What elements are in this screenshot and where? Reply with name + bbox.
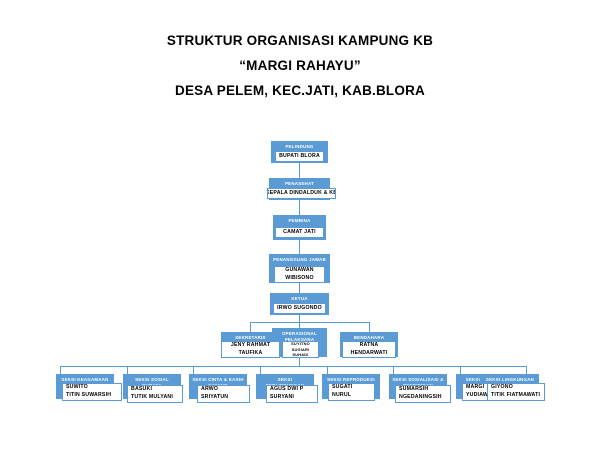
node-penasehat[interactable]: PENASEHAT KEPALA DINDALDUK & KB: [269, 178, 330, 200]
node-operasional-pelaksana[interactable]: OPERASIONAL PELAKSANA SUYITNO SUGIARI SU…: [272, 328, 327, 357]
bus-mid-row: [250, 322, 369, 323]
node-bendahara-name-0: RATNA: [360, 342, 379, 350]
connector-penasehat-pembina: [299, 199, 300, 215]
node-seksi-sosialisasi-pendidikan[interactable]: SEKSI SOSIALISASI & PENDIDIKAN SUMARSIH …: [389, 374, 447, 399]
connector-bus-seksi-5: [327, 366, 328, 374]
connector-pelindung-penasehat: [299, 162, 300, 178]
node-seksi-sosialisasi-pendidikan-name-0: SUMARSIH: [399, 386, 428, 394]
node-seksi-perlindungan[interactable]: SEKSI PERLINDUNGAN AGUS DWI P SURYANI: [256, 374, 314, 399]
node-operasional-pelaksana-name-2: SUHADI: [292, 352, 308, 358]
connector-bus-seksi-4: [260, 366, 261, 374]
node-seksi-reproduksi[interactable]: SEKSI REPRODUKSI SUGATI NURUL: [322, 374, 380, 399]
node-seksi-lingkungan-name-1: TITIK FIATMAWATI: [491, 392, 540, 400]
connector-bus-seksi-2: [127, 366, 128, 374]
node-penasehat-body[interactable]: KEPALA DINDALDUK & KB: [267, 188, 336, 199]
node-penanggung-jawab-name-0: GUNAWAN: [285, 267, 314, 275]
node-sekretaris-name-0: JENY RAHMAT: [231, 342, 270, 350]
org-chart-page: STRUKTUR ORGANISASI KAMPUNG KB “MARGI RA…: [0, 0, 600, 464]
node-bendahara-name-1: HENDARWATI: [351, 350, 388, 358]
node-penanggung-jawab-body[interactable]: GUNAWAN WIBISONO: [274, 266, 325, 283]
node-seksi-cinta-kasih-sayang-body[interactable]: ARWO SRIYATUN: [197, 385, 250, 403]
connector-operasional-drop: [299, 357, 300, 366]
page-title: STRUKTUR ORGANISASI KAMPUNG KB “MARGI RA…: [0, 28, 600, 103]
node-seksi-lingkungan-name-0: GIYONO: [491, 384, 513, 392]
node-sekretaris-body[interactable]: JENY RAHMAT TAUFIKA: [221, 341, 280, 358]
node-seksi-sosialisasi-pendidikan-body[interactable]: SUMARSIH NGEDANINGSIH: [395, 385, 451, 403]
node-seksi-reproduksi-name-1: NURUL: [332, 392, 351, 400]
connector-bus-bendahara: [369, 322, 370, 332]
node-seksi-lingkungan[interactable]: SEKSI LINGKUNGAN GIYONO TITIK FIATMAWATI: [481, 374, 539, 399]
node-bendahara-body[interactable]: RATNA HENDARWATI: [342, 341, 396, 358]
node-seksi-keagamaan[interactable]: SEKSI KEAGAMAAN SUWITO TITIN SUWARSIH: [56, 374, 114, 399]
node-seksi-sosial-budaya[interactable]: SEKSI SOSIAL BUDAYA BASUKI TUTIK MULYANI: [123, 374, 181, 399]
node-seksi-ekonomi-name-0: MARGI: [466, 384, 484, 392]
node-pembina-name-0: CAMAT JATI: [283, 229, 316, 237]
node-seksi-keagamaan-name-1: TITIN SUWARSIH: [66, 392, 111, 400]
connector-bus-sekretaris: [250, 322, 251, 332]
node-pembina[interactable]: PEMBINA CAMAT JATI: [273, 215, 326, 240]
node-seksi-cinta-kasih-sayang[interactable]: SEKSI CINTA & KASIH SAYANG ARWO SRIYATUN: [189, 374, 247, 399]
connector-bus-seksi-6: [393, 366, 394, 374]
node-seksi-keagamaan-name-0: SUWITO: [66, 384, 88, 392]
node-seksi-perlindungan-name-1: SURYANI: [270, 394, 294, 402]
node-pelindung-name-0: BUPATI BLORA: [279, 153, 320, 161]
node-ketua-name-0: IRWO SUGONDO: [277, 305, 322, 313]
node-seksi-sosial-budaya-body[interactable]: BASUKI TUTIK MULYANI: [127, 385, 183, 403]
bus-seksi-row: [60, 366, 526, 367]
connector-bus-seksi-7: [460, 366, 461, 374]
node-seksi-reproduksi-body[interactable]: SUGATI NURUL: [328, 383, 375, 401]
connector-penanggung-ketua: [299, 283, 300, 293]
node-seksi-cinta-kasih-sayang-name-0: ARWO: [201, 386, 218, 394]
node-seksi-lingkungan-body[interactable]: GIYONO TITIK FIATMAWATI: [487, 383, 545, 401]
connector-bus-seksi-3: [193, 366, 194, 374]
node-penanggung-jawab[interactable]: PENANGGUNG JAWAB GUNAWAN WIBISONO: [269, 254, 330, 283]
node-penasehat-name-0: KEPALA DINDALDUK & KB: [267, 190, 336, 198]
node-penanggung-jawab-name-1: WIBISONO: [285, 275, 313, 283]
node-sekretaris-name-1: TAUFIKA: [239, 350, 263, 358]
node-seksi-perlindungan-name-0: AGUS DWI P: [270, 386, 303, 394]
title-line-3: DESA PELEM, KEC.JATI, KAB.BLORA: [0, 78, 600, 103]
connector-bus-seksi-8: [526, 366, 527, 374]
node-seksi-keagamaan-body[interactable]: SUWITO TITIN SUWARSIH: [62, 383, 122, 401]
node-seksi-sosial-budaya-name-0: BASUKI: [131, 386, 152, 394]
node-pembina-body[interactable]: CAMAT JATI: [275, 227, 324, 238]
connector-pembina-penanggung: [299, 240, 300, 254]
connector-bus-operasional: [299, 322, 300, 332]
node-ketua[interactable]: KETUA IRWO SUGONDO: [270, 293, 329, 315]
node-pelindung[interactable]: PELINDUNG BUPATI BLORA: [271, 141, 328, 163]
node-pelindung-body[interactable]: BUPATI BLORA: [275, 151, 324, 162]
title-line-1: STRUKTUR ORGANISASI KAMPUNG KB: [0, 28, 600, 53]
title-line-2: “MARGI RAHAYU”: [0, 53, 600, 78]
node-seksi-sosial-budaya-name-1: TUTIK MULYANI: [131, 394, 173, 402]
node-bendahara[interactable]: BENDAHARA RATNA HENDARWATI: [340, 332, 398, 357]
node-seksi-cinta-kasih-sayang-name-1: SRIYATUN: [201, 394, 228, 402]
node-seksi-perlindungan-body[interactable]: AGUS DWI P SURYANI: [266, 385, 318, 403]
connector-bus-seksi-1: [60, 366, 61, 374]
node-seksi-sosialisasi-pendidikan-name-1: NGEDANINGSIH: [399, 394, 442, 402]
node-ketua-body[interactable]: IRWO SUGONDO: [273, 303, 326, 314]
node-seksi-reproduksi-name-0: SUGATI: [332, 384, 352, 392]
node-operasional-pelaksana-body[interactable]: SUYITNO SUGIARI SUHADI: [282, 341, 319, 358]
